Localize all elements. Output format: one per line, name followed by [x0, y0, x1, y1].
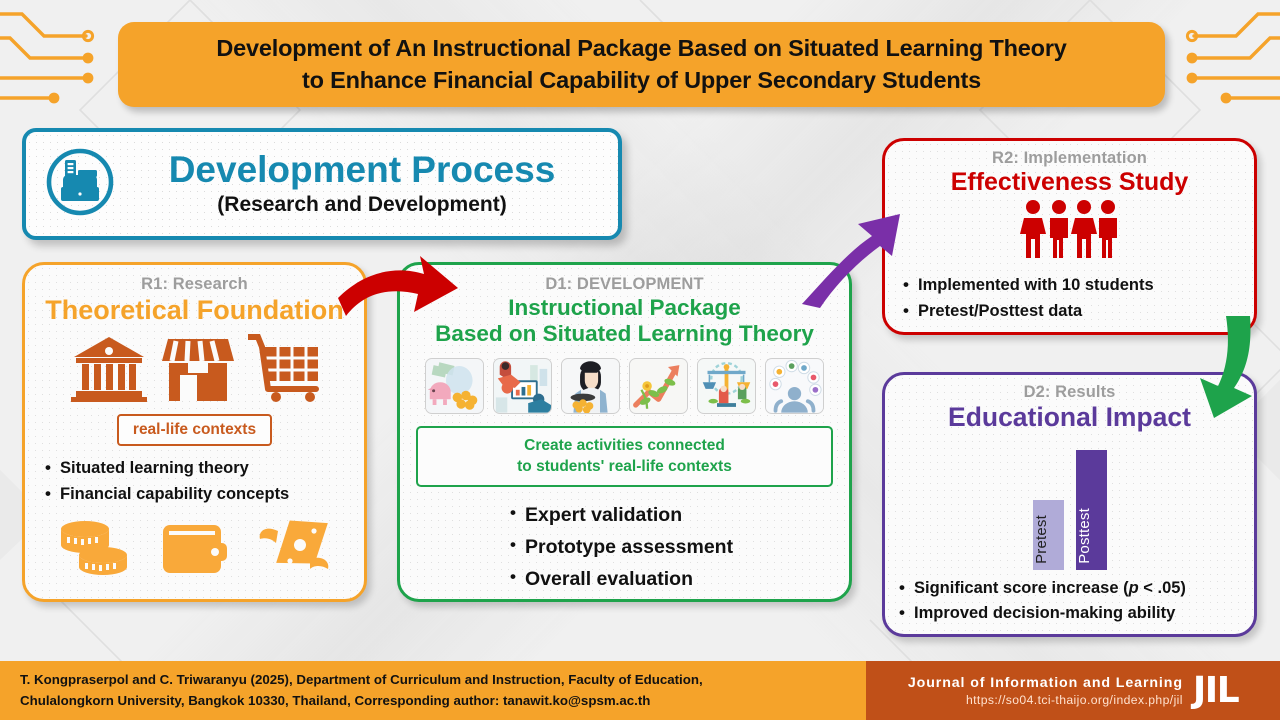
circuit-decor-left — [0, 0, 118, 120]
list-item: Significant score increase (p < .05) — [897, 576, 1254, 602]
panel-d1-development: D1: DEVELOPMENT Instructional Package Ba… — [397, 262, 852, 602]
panel-d1-kicker: D1: DEVELOPMENT — [400, 275, 849, 294]
panel-r2-implementation: R2: Implementation Effectiveness Study I… — [882, 138, 1257, 335]
panel-d2-kicker: D2: Results — [885, 383, 1254, 402]
balance-scale-thumb — [697, 358, 756, 414]
bar-posttest: Posttest — [1076, 450, 1107, 570]
pretest-posttest-bar-chart: Pretest Posttest — [885, 438, 1254, 570]
panel-d2-results: D2: Results Educational Impact Pretest P… — [882, 372, 1257, 637]
group-of-students-icon — [1018, 246, 1122, 263]
data-dashboard-thumb — [493, 358, 552, 414]
panel-r1-research: R1: Research Theoretical Foundation — [22, 262, 367, 602]
shop-icon — [162, 335, 234, 408]
real-life-contexts-badge: real-life contexts — [117, 414, 272, 446]
list-item: Prototype assessment — [508, 532, 849, 564]
page-title-line1: Development of An Instructional Package … — [216, 33, 1066, 64]
thumbnail-strip — [400, 358, 849, 414]
journal-name: Journal of Information and Learning — [908, 675, 1183, 691]
panel-d2-heading: Educational Impact — [885, 403, 1254, 432]
list-item: Financial capability concepts — [43, 482, 364, 508]
bank-icon — [70, 333, 148, 408]
bar-pretest-label: Pretest — [1033, 515, 1064, 564]
list-item: Expert validation — [508, 500, 849, 532]
wallet-icon — [161, 519, 227, 582]
development-process-subtitle: (Research and Development) — [130, 193, 594, 217]
footer-citation: T. Kongpraserpol and C. Triwaranyu (2025… — [0, 661, 866, 720]
flying-money-icon — [256, 517, 332, 584]
footer-citation-line2: Chulalongkorn University, Bangkok 10330,… — [20, 691, 703, 712]
list-item: Overall evaluation — [508, 564, 849, 596]
page-title-line2: to Enhance Financial Capability of Upper… — [216, 65, 1066, 96]
journal-logo: JIL — [1193, 673, 1238, 709]
panel-d1-heading-line2: Based on Situated Learning Theory — [400, 322, 849, 346]
footer-citation-line1: T. Kongpraserpol and C. Triwaranyu (2025… — [20, 670, 703, 691]
panel-r2-heading: Effectiveness Study — [885, 169, 1254, 196]
coin-jar-woman-thumb — [561, 358, 620, 414]
create-activities-line2: to students' real-life contexts — [424, 457, 825, 478]
list-item: Situated learning theory — [43, 456, 364, 482]
bar-posttest-label: Posttest — [1076, 508, 1107, 564]
panel-r1-bullets: Situated learning theory Financial capab… — [43, 456, 364, 507]
page-title: Development of An Instructional Package … — [118, 22, 1165, 107]
panel-r1-heading: Theoretical Foundation — [25, 296, 364, 325]
growth-chart-plants-thumb — [629, 358, 688, 414]
list-item: Pretest/Posttest data — [901, 299, 1254, 325]
panel-d2-bullets: Significant score increase (p < .05) Imp… — [897, 576, 1254, 627]
list-item: Improved decision-making ability — [897, 601, 1254, 627]
footer-journal: Journal of Information and Learning http… — [866, 661, 1280, 720]
panel-d1-heading-line1: Instructional Package — [400, 296, 849, 320]
create-activities-line1: Create activities connected — [424, 436, 825, 457]
cash-register-icon — [44, 146, 116, 223]
panel-r1-kicker: R1: Research — [25, 275, 364, 294]
journal-url[interactable]: https://so04.tci-thaijo.org/index.php/ji… — [908, 693, 1183, 707]
coins-icon — [57, 517, 133, 584]
decision-ideas-thumb — [765, 358, 824, 414]
shopping-cart-icon — [248, 333, 320, 408]
circuit-decor-right — [1162, 0, 1280, 120]
piggy-bank-savings-thumb — [425, 358, 484, 414]
development-process-title: Development Process — [130, 151, 594, 190]
panel-d1-bullets: Expert validation Prototype assessment O… — [508, 500, 849, 595]
bar-pretest: Pretest — [1033, 500, 1064, 570]
panel-r2-bullets: Implemented with 10 students Pretest/Pos… — [901, 273, 1254, 324]
list-item: Implemented with 10 students — [901, 273, 1254, 299]
create-activities-box: Create activities connected to students'… — [416, 426, 833, 488]
development-process-header: Development Process (Research and Develo… — [22, 128, 622, 240]
panel-r2-kicker: R2: Implementation — [885, 149, 1254, 168]
